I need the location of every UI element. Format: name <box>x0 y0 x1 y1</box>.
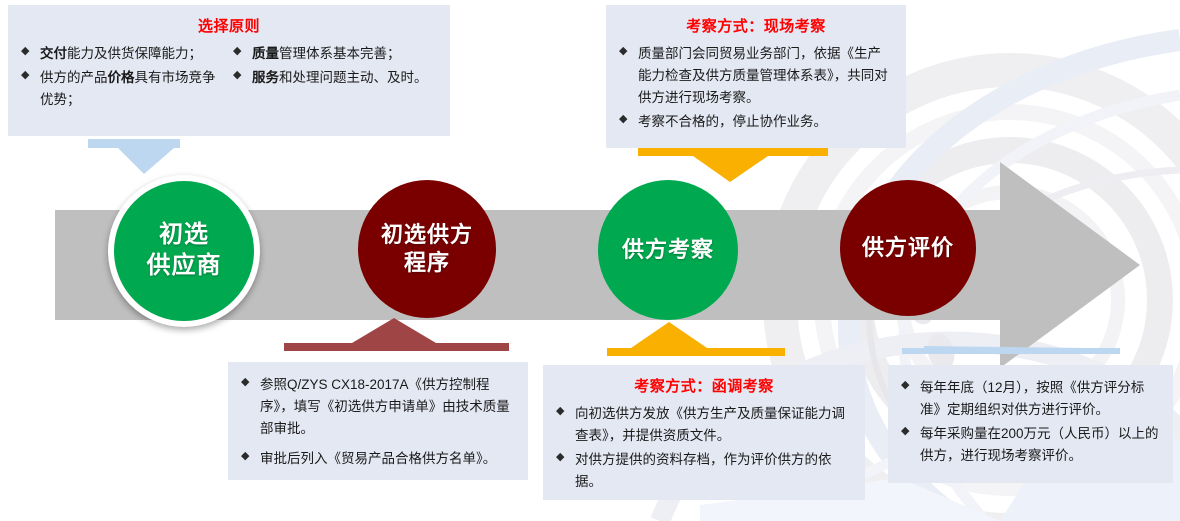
list-item: ◆ 每年采购量在200万元（人民币）以上的供方，进行现场考察评价。 <box>900 423 1161 467</box>
diamond-bullet-icon: ◆ <box>556 403 564 421</box>
infobox-top-left-selection-principles: 选择原则 ◆ 交付能力及供货保障能力； ◆ 供方的产品价格具有市场竞争优势； <box>8 5 450 136</box>
list-item: ◆ 供方的产品价格具有市场竞争优势； <box>20 67 226 111</box>
list-item-text: 供方的产品价格具有市场竞争优势； <box>40 70 216 107</box>
node-2-chu-xuan-gong-fang-cheng-xu[interactable]: 初选供方 程序 <box>358 180 496 318</box>
list-item-text: 审批后列入《贸易产品合格供方名单》。 <box>260 451 496 466</box>
list-item: ◆ 审批后列入《贸易产品合格供方名单》。 <box>240 448 516 470</box>
infobox-bottom-right-list: ◆ 每年年底（12月），按照《供方评分标准》定期组织对供方进行评价。 ◆ 每年采… <box>900 377 1161 466</box>
node-2-label-line2: 程序 <box>381 249 473 277</box>
list-item: ◆ 考察不合格的，停止协作业务。 <box>618 111 894 133</box>
list-item: ◆ 服务和处理问题主动、及时。 <box>232 67 438 89</box>
diamond-bullet-icon: ◆ <box>241 448 249 466</box>
infobox-bottom-mid-title: 考察方式：函调考察 <box>555 375 853 396</box>
node-1-label-line1: 初选 <box>147 220 222 251</box>
list-item: ◆ 每年年底（12月），按照《供方评分标准》定期组织对供方进行评价。 <box>900 377 1161 421</box>
list-item-text: 对供方提供的资料存档，作为评价供方的依据。 <box>575 452 832 489</box>
list-item: ◆ 参照Q/ZYS CX18-2017A《供方控制程序》，填写《初选供方申请单》… <box>240 374 516 440</box>
node-3-gong-fang-kao-cha[interactable]: 供方考察 <box>598 180 738 320</box>
list-item-text: 质量部门会同贸易业务部门，依据《生产能力检查及供方质量管理体系表》，共同对供方进… <box>638 46 888 105</box>
list-item-text: 考察不合格的，停止协作业务。 <box>638 114 827 129</box>
infobox-top-right-title: 考察方式：现场考察 <box>618 15 894 36</box>
list-item: ◆ 向初选供方发放《供方生产及质量保证能力调查表》，并提供资质文件。 <box>555 403 853 447</box>
connector-top-left <box>88 139 188 175</box>
diamond-bullet-icon: ◆ <box>619 43 627 61</box>
infobox-top-right-onsite-inspection: 考察方式：现场考察 ◆ 质量部门会同贸易业务部门，依据《生产能力检查及供方质量管… <box>606 5 906 148</box>
flowchart-canvas: 初选 供应商 初选供方 程序 供方考察 供方评价 选择原则 ◆ 交付能力及供货保 <box>0 0 1180 521</box>
diamond-bullet-icon: ◆ <box>21 43 29 61</box>
diamond-bullet-icon: ◆ <box>556 449 564 467</box>
infobox-bottom-mid-letter-inspection: 考察方式：函调考察 ◆ 向初选供方发放《供方生产及质量保证能力调查表》，并提供资… <box>543 365 865 500</box>
connector-top-right <box>638 147 833 183</box>
list-item: ◆ 交付能力及供货保障能力； <box>20 43 226 65</box>
diamond-bullet-icon: ◆ <box>233 43 241 61</box>
infobox-top-right-list: ◆ 质量部门会同贸易业务部门，依据《生产能力检查及供方质量管理体系表》，共同对供… <box>618 43 894 132</box>
node-1-label-line2: 供应商 <box>147 251 222 282</box>
infobox-bottom-left-list: ◆ 参照Q/ZYS CX18-2017A《供方控制程序》，填写《初选供方申请单》… <box>240 374 516 469</box>
list-item-text: 服务和处理问题主动、及时。 <box>252 70 428 85</box>
list-item-text: 每年年底（12月），按照《供方评分标准》定期组织对供方进行评价。 <box>920 380 1144 417</box>
list-item: ◆ 对供方提供的资料存档，作为评价供方的依据。 <box>555 449 853 493</box>
connector-bottom-mid <box>607 322 807 356</box>
node-2-label-line1: 初选供方 <box>381 221 473 249</box>
node-4-label-line1: 供方评价 <box>862 234 954 262</box>
connector-bottom-right <box>880 322 1130 356</box>
infobox-bottom-mid-list: ◆ 向初选供方发放《供方生产及质量保证能力调查表》，并提供资质文件。 ◆ 对供方… <box>555 403 853 492</box>
diamond-bullet-icon: ◆ <box>619 111 627 129</box>
list-item-text: 交付能力及供货保障能力； <box>40 46 202 61</box>
connector-bottom-left <box>284 318 514 352</box>
infobox-bottom-left-control-procedure: ◆ 参照Q/ZYS CX18-2017A《供方控制程序》，填写《初选供方申请单》… <box>228 362 528 480</box>
node-3-label-line1: 供方考察 <box>622 236 714 264</box>
infobox-top-left-col2-list: ◆ 质量管理体系基本完善； ◆ 服务和处理问题主动、及时。 <box>232 43 438 89</box>
infobox-top-left-col1-list: ◆ 交付能力及供货保障能力； ◆ 供方的产品价格具有市场竞争优势； <box>20 43 226 111</box>
list-item-text: 每年采购量在200万元（人民币）以上的供方，进行现场考察评价。 <box>920 426 1159 463</box>
list-item-text: 质量管理体系基本完善； <box>252 46 401 61</box>
list-item-text: 参照Q/ZYS CX18-2017A《供方控制程序》，填写《初选供方申请单》由技… <box>260 377 510 436</box>
list-item: ◆ 质量管理体系基本完善； <box>232 43 438 65</box>
list-item-text: 向初选供方发放《供方生产及质量保证能力调查表》，并提供资质文件。 <box>575 406 845 443</box>
diamond-bullet-icon: ◆ <box>901 377 909 395</box>
diamond-bullet-icon: ◆ <box>21 67 29 85</box>
diamond-bullet-icon: ◆ <box>241 374 249 392</box>
infobox-bottom-right-annual-evaluation: ◆ 每年年底（12月），按照《供方评分标准》定期组织对供方进行评价。 ◆ 每年采… <box>888 365 1173 483</box>
node-1-chu-xuan-gong-ying-shang[interactable]: 初选 供应商 <box>108 175 260 327</box>
diamond-bullet-icon: ◆ <box>901 423 909 441</box>
infobox-top-left-title: 选择原则 <box>20 15 438 36</box>
diamond-bullet-icon: ◆ <box>233 67 241 85</box>
list-item: ◆ 质量部门会同贸易业务部门，依据《生产能力检查及供方质量管理体系表》，共同对供… <box>618 43 894 109</box>
node-4-gong-fang-ping-jia[interactable]: 供方评价 <box>840 180 976 316</box>
